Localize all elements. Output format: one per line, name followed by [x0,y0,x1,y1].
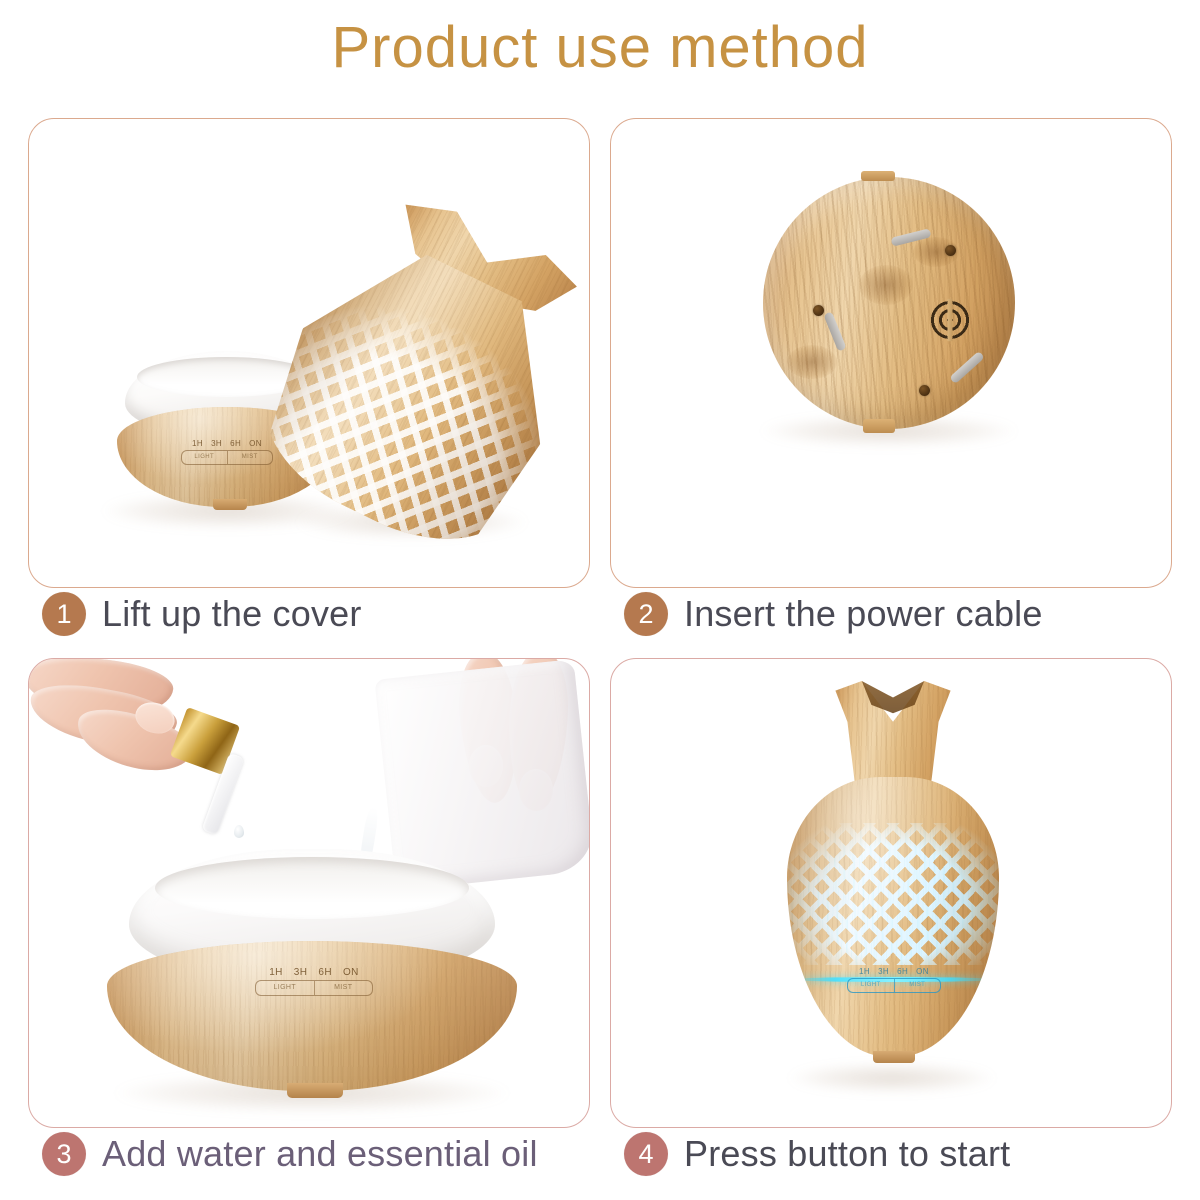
mist-button[interactable]: MIST [315,981,373,995]
control-buttons: LIGHT MIST [255,980,373,996]
wood-bowl [107,941,517,1091]
timer-labels: 1H 3H 6H ON [847,967,941,976]
screw [945,245,956,256]
timer-label-on: ON [916,967,929,976]
wood-knot [787,345,837,379]
step-4-badge: 4 [624,1132,668,1176]
step-3-badge: 3 [42,1132,86,1176]
step-cell-4: 1H 3H 6H ON LIGHT MIST 4 Press button to… [610,658,1172,1198]
light-button[interactable]: LIGHT [256,981,315,995]
vase-belly [787,777,999,1057]
light-button[interactable]: LIGHT [848,979,895,992]
mist-button[interactable]: MIST [895,979,941,992]
base-foot [287,1083,343,1098]
screw [919,385,930,396]
step-1-photo-card: 1H 3H 6H ON LIGHT MIST [28,118,590,588]
open-diffuser-bowl: 1H 3H 6H ON LIGHT MIST [107,849,517,1099]
base-tab-top [861,171,895,181]
base-foot [873,1051,915,1063]
fan-vent-grille [919,289,981,351]
diffuser-underside [763,177,1015,429]
step-2-label: Insert the power cable [684,593,1043,635]
glowing-lattice-pattern [787,823,999,965]
step-2-caption: 2 Insert the power cable [624,590,1043,638]
step-3-label: Add water and essential oil [102,1133,538,1175]
screw [813,305,824,316]
control-panel[interactable]: 1H 3H 6H ON LIGHT MIST [255,967,373,996]
step-4-label: Press button to start [684,1133,1010,1175]
timer-label-6h: 6H [897,967,908,976]
step-4-photo-card: 1H 3H 6H ON LIGHT MIST [610,658,1172,1128]
wood-knot [859,265,913,305]
timer-label-3h: 3H [878,967,889,976]
timer-label-6h: 6H [318,967,332,978]
page-title: Product use method [0,14,1200,81]
step-2-badge: 2 [624,592,668,636]
steps-grid: 1H 3H 6H ON LIGHT MIST [28,118,1172,1188]
base-tab-bottom [863,419,895,433]
step-4-caption: 4 Press button to start [624,1130,1010,1178]
timer-label-3h: 3H [211,439,222,448]
assembled-diffuser-vase: 1H 3H 6H ON LIGHT MIST [787,681,999,1081]
step-1-label: Lift up the cover [102,593,362,635]
step-1-caption: 1 Lift up the cover [42,590,362,638]
base-foot [213,499,247,510]
step-cell-1: 1H 3H 6H ON LIGHT MIST [28,118,590,658]
timer-label-3h: 3H [294,967,308,978]
oil-droplet [234,825,244,838]
timer-label-1h: 1H [269,967,283,978]
control-buttons: LIGHT MIST [847,978,941,993]
step-cell-2: 2 Insert the power cable [610,118,1172,658]
timer-label-1h: 1H [859,967,870,976]
step-3-photo-card: 1H 3H 6H ON LIGHT MIST [28,658,590,1128]
light-button[interactable]: LIGHT [182,451,228,464]
step-cell-3: 1H 3H 6H ON LIGHT MIST 3 Add water and e… [28,658,590,1198]
timer-label-1h: 1H [192,439,203,448]
timer-labels: 1H 3H 6H ON [255,967,373,978]
step-2-photo-card [610,118,1172,588]
control-panel[interactable]: 1H 3H 6H ON LIGHT MIST [847,967,941,993]
step-3-caption: 3 Add water and essential oil [42,1130,538,1178]
step-1-badge: 1 [42,592,86,636]
timer-label-on: ON [343,967,359,978]
